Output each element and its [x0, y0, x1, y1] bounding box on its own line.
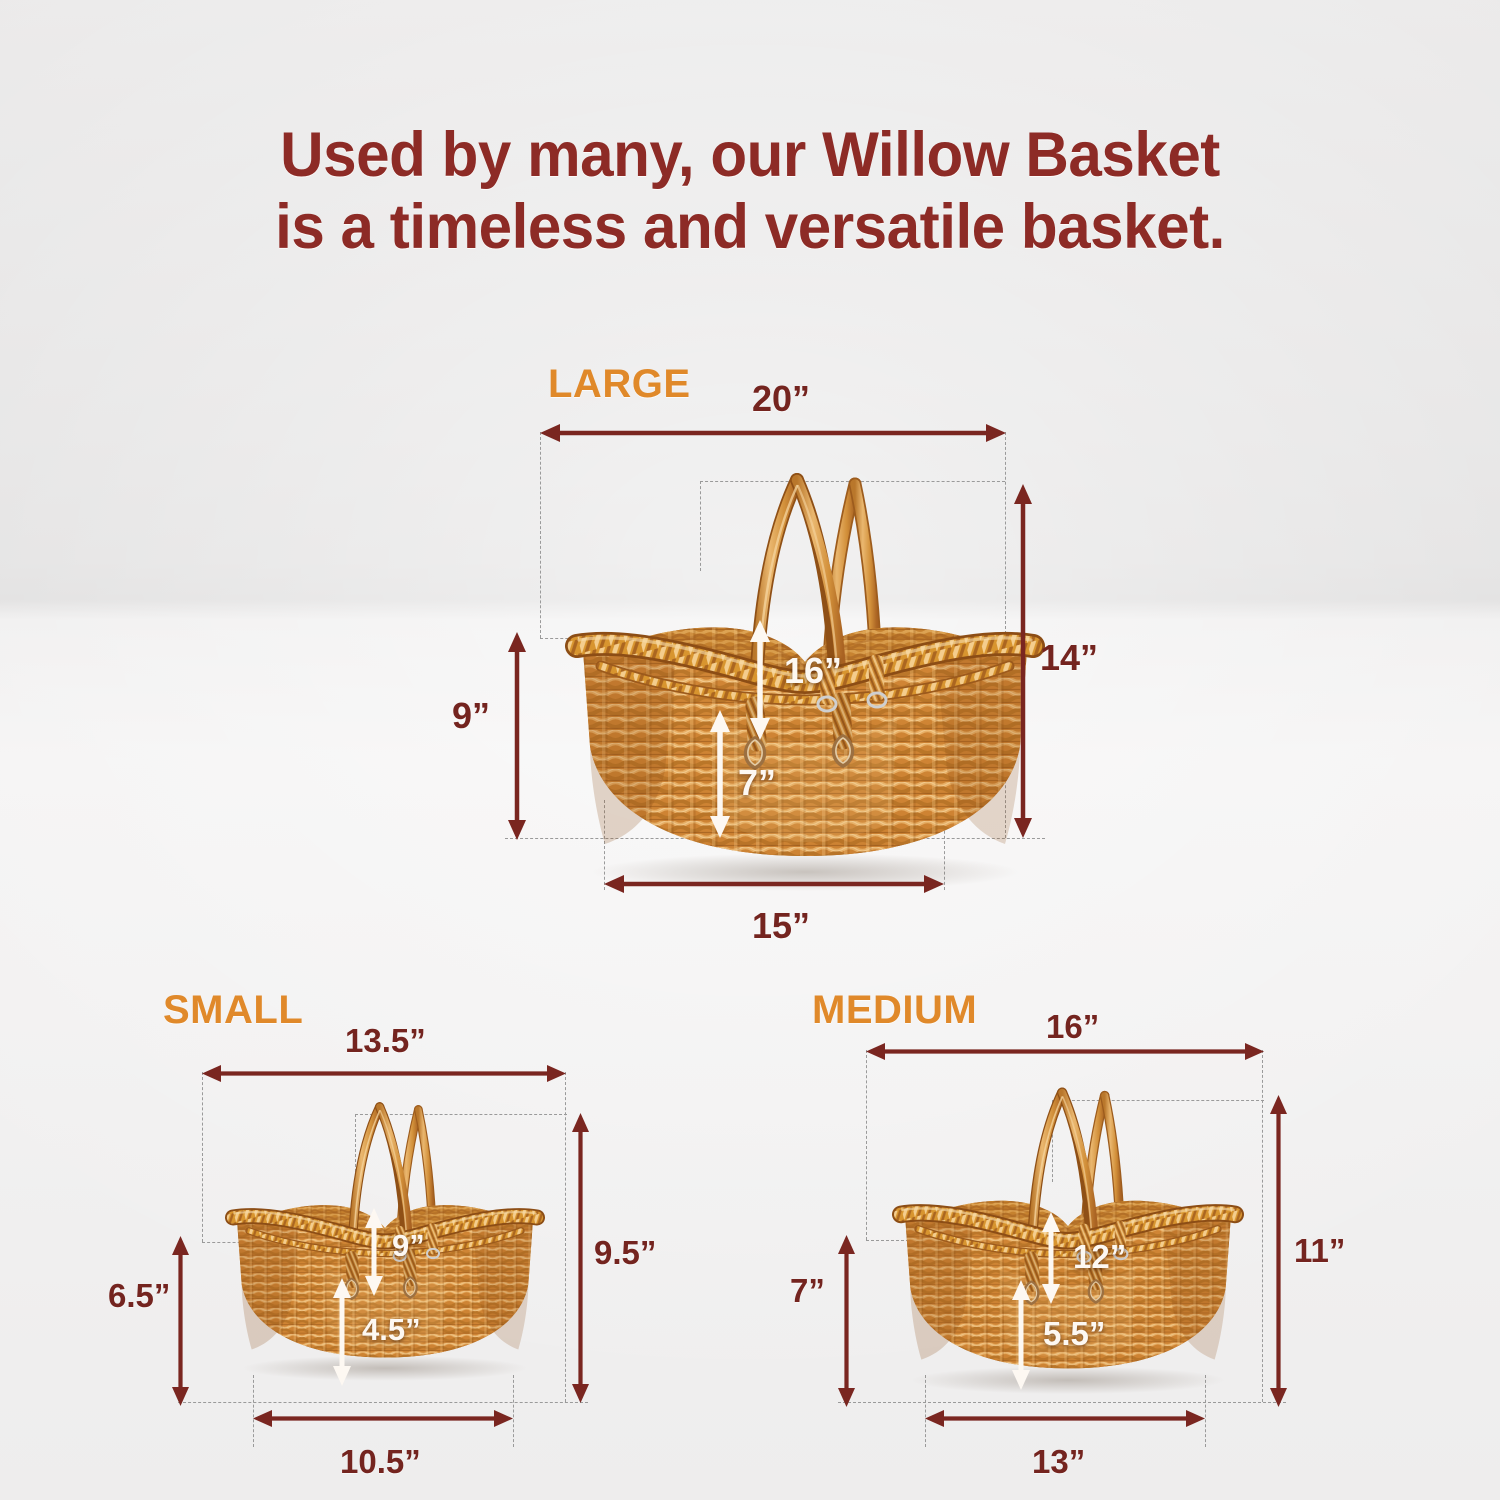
- dimension-large-overall-width: 20”: [752, 378, 810, 420]
- dimension-small-overall-width: 13.5”: [345, 1022, 426, 1060]
- arrow-medium-base-width: [925, 1410, 1205, 1427]
- arrow-large-base-width: [604, 875, 944, 893]
- arrow-small-handle-height: [365, 1208, 383, 1296]
- arrow-medium-inner-depth: [1012, 1280, 1030, 1390]
- dimension-large-side-height: 9”: [452, 695, 490, 737]
- arrow-large-handle-height: [750, 620, 770, 740]
- arrow-medium-overall-width: [866, 1043, 1264, 1060]
- dimension-small-overall-height: 9.5”: [594, 1234, 656, 1272]
- page-headline: Used by many, our Willow Basket is a tim…: [34, 120, 1467, 264]
- dimension-medium-overall-width: 16”: [1046, 1008, 1099, 1046]
- arrow-large-inner-depth: [710, 710, 730, 838]
- dimension-large-base-width: 15”: [752, 905, 810, 947]
- basket-image-medium: [848, 1085, 1288, 1401]
- dimension-large-handle-height: 16”: [784, 650, 842, 692]
- dimension-small-handle-height: 9”: [392, 1228, 425, 1264]
- dimension-medium-inner-depth: 5.5”: [1043, 1315, 1105, 1353]
- dimension-medium-side-height: 7”: [790, 1272, 825, 1310]
- arrow-medium-overall-height: [1270, 1095, 1287, 1407]
- guide-medium-bottom: [838, 1402, 1286, 1403]
- arrow-large-overall-width: [540, 424, 1006, 442]
- arrow-large-side-height: [508, 632, 526, 840]
- arrow-small-overall-height: [572, 1113, 589, 1403]
- arrow-medium-handle-height: [1042, 1212, 1060, 1304]
- dimension-medium-overall-height: 11”: [1294, 1232, 1345, 1270]
- size-label-medium: MEDIUM: [812, 988, 977, 1033]
- dimension-medium-handle-height: 12”: [1073, 1238, 1126, 1276]
- dimension-large-overall-height: 14”: [1040, 637, 1098, 679]
- dimension-medium-base-width: 13”: [1032, 1443, 1085, 1481]
- arrow-medium-side-height: [838, 1235, 855, 1407]
- arrow-small-base-width: [253, 1410, 513, 1427]
- guide-small-bottom: [178, 1402, 588, 1403]
- dimension-small-base-width: 10.5”: [340, 1443, 421, 1481]
- arrow-small-overall-width: [202, 1065, 566, 1082]
- dimension-large-inner-depth: 7”: [738, 762, 776, 804]
- size-label-large: LARGE: [548, 362, 691, 407]
- arrow-small-inner-depth: [333, 1278, 351, 1386]
- dimension-small-inner-depth: 4.5”: [362, 1312, 421, 1348]
- arrow-small-side-height: [172, 1236, 189, 1406]
- dimension-small-side-height: 6.5”: [108, 1277, 170, 1315]
- arrow-large-overall-height: [1014, 484, 1032, 838]
- size-label-small: SMALL: [163, 988, 303, 1033]
